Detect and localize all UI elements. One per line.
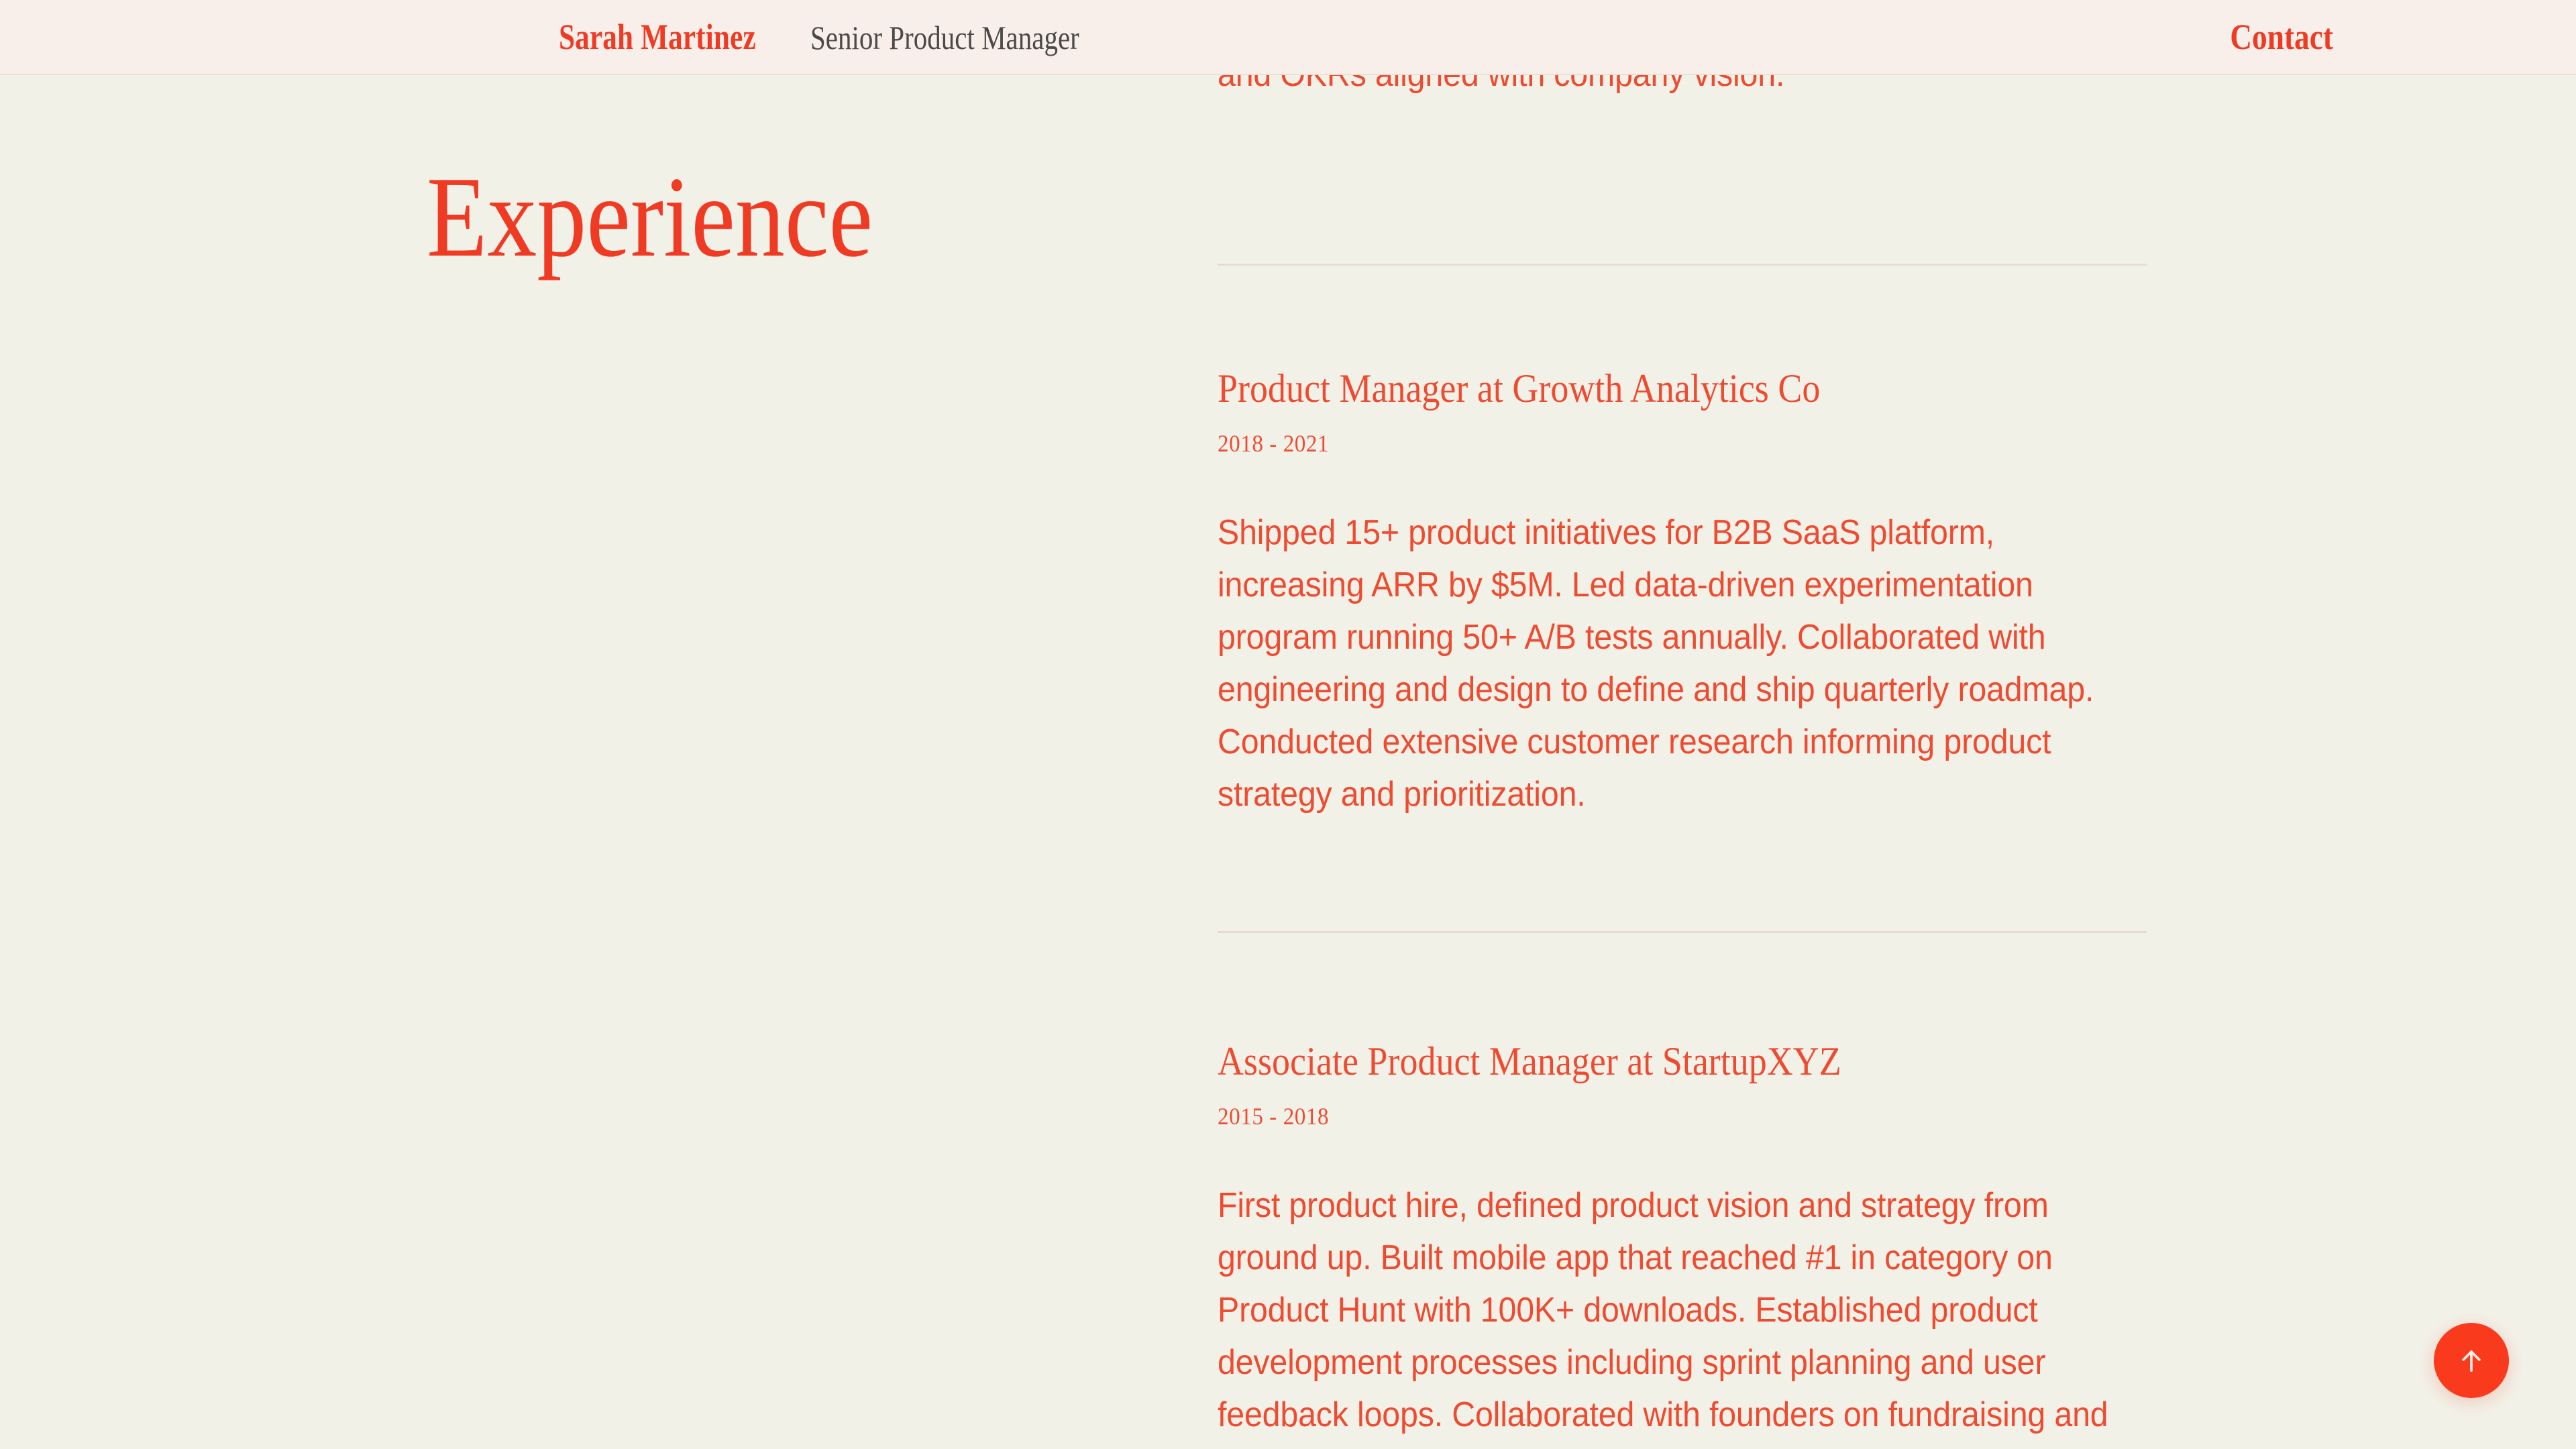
nav-link-contact[interactable]: Contact [2230, 16, 2333, 58]
job-title: Associate Product Manager at StartupXYZ [1218, 1038, 2117, 1085]
scroll-to-top-button[interactable] [2434, 1323, 2509, 1398]
experience-entry: Associate Product Manager at StartupXYZ … [1218, 1038, 2217, 1441]
job-dates: 2018 - 2021 [1218, 429, 2137, 458]
job-description: First product hire, defined product visi… [1218, 1179, 2147, 1441]
portfolio-page: cross-functional team of engineers, desi… [0, 0, 2576, 1449]
site-header: Sarah Martinez Senior Product Manager Co… [0, 0, 2576, 75]
page-title: Experience [427, 160, 873, 275]
job-title: Product Manager at Growth Analytics Co [1218, 366, 2117, 412]
brand[interactable]: Sarah Martinez Senior Product Manager [559, 16, 1138, 58]
entry-divider [1218, 264, 2147, 266]
brand-role: Senior Product Manager [810, 18, 1079, 57]
job-description: Shipped 15+ product initiatives for B2B … [1218, 506, 2147, 820]
job-dates: 2015 - 2018 [1218, 1102, 2137, 1131]
entry-divider [1218, 931, 2147, 933]
arrow-up-icon [2454, 1343, 2489, 1378]
brand-name[interactable]: Sarah Martinez [559, 16, 756, 58]
experience-entry: Product Manager at Growth Analytics Co 2… [1218, 366, 2217, 820]
